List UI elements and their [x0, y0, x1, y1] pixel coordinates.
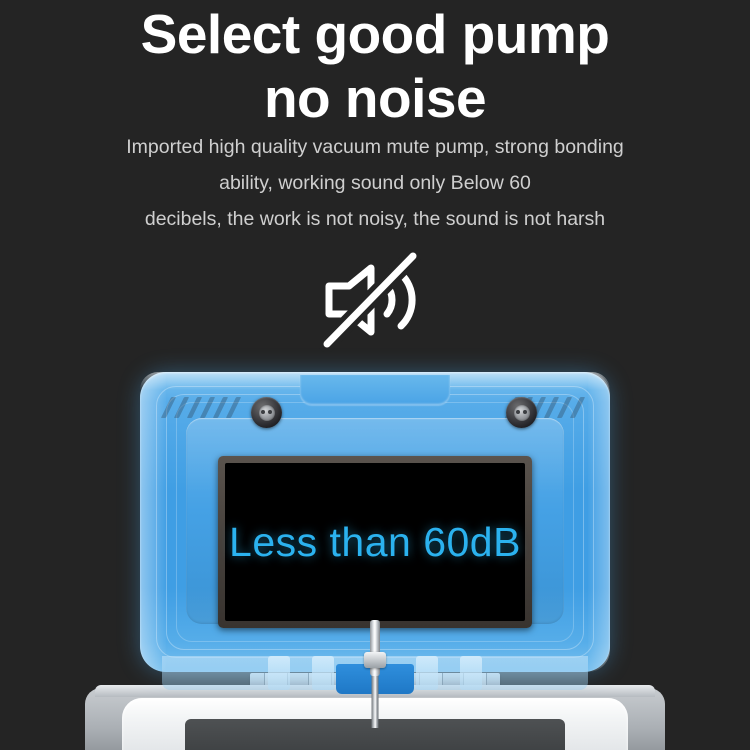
lid-tab-4 — [460, 656, 482, 690]
description-line-1: Imported high quality vacuum mute pump, … — [0, 129, 750, 165]
vacuum-sealer-device: Less than 60dB — [0, 355, 750, 750]
display-bezel: Less than 60dB — [218, 456, 532, 628]
lid-tab-1 — [268, 656, 290, 690]
headline-line-2: no noise — [0, 66, 750, 130]
valve-nut — [364, 652, 386, 668]
description-paragraph: Imported high quality vacuum mute pump, … — [0, 129, 750, 237]
screw-right-head — [514, 405, 530, 421]
lid-tab-2 — [312, 656, 334, 690]
lid-gloss-left — [140, 372, 166, 672]
promo-banner: Select good pump no noise Imported high … — [0, 0, 750, 750]
screw-right[interactable] — [506, 397, 537, 428]
description-line-3: decibels, the work is not noisy, the sou… — [0, 201, 750, 237]
device-lid[interactable]: Less than 60dB — [140, 372, 610, 672]
lid-tab-3 — [416, 656, 438, 690]
display-text: Less than 60dB — [229, 519, 521, 566]
page-title: Select good pump no noise — [0, 2, 750, 130]
screw-left-head — [259, 405, 275, 421]
valve-pipe — [372, 670, 379, 728]
lid-gloss-right — [588, 372, 610, 672]
description-line-2: ability, working sound only Below 60 — [0, 165, 750, 201]
mute-speaker-icon — [313, 248, 437, 352]
screw-left[interactable] — [251, 397, 282, 428]
vent-grille-left — [162, 397, 244, 419]
display-screen: Less than 60dB — [225, 463, 525, 621]
lid-handle-notch[interactable] — [300, 375, 450, 405]
headline-line-1: Select good pump — [141, 3, 610, 65]
